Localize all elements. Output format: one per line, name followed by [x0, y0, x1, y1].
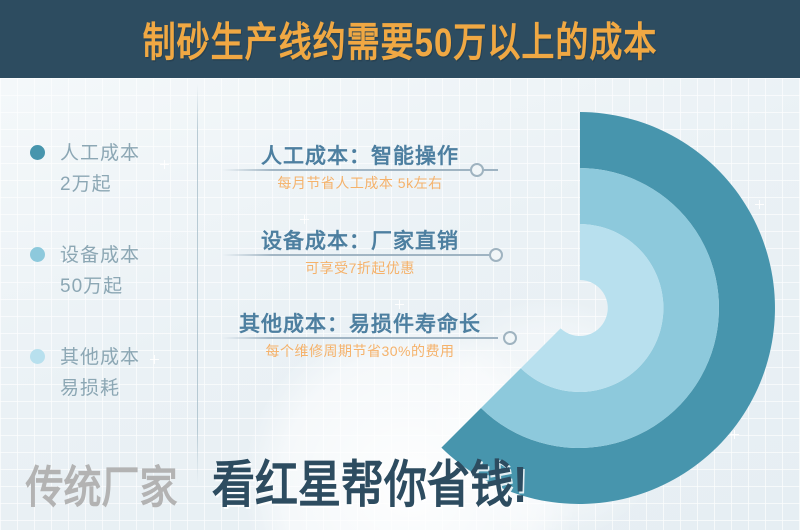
callout-title-labor: 人工成本：智能操作 — [210, 140, 510, 170]
circle-node-icon — [470, 163, 484, 177]
legend-label-labor-line1: 人工成本 — [60, 143, 140, 164]
legend-label-other-line1: 其他成本 — [60, 347, 140, 368]
callout-subtitle-labor: 每月节省人工成本 5k左右 — [210, 173, 510, 193]
callout-rule-labor — [222, 169, 498, 171]
legend-dot-labor — [30, 145, 45, 160]
callout-title-other: 其他成本：易损件寿命长 — [210, 308, 510, 338]
vertical-divider — [197, 84, 198, 484]
legend-label-equipment-line2: 50万起 — [60, 271, 190, 302]
legend-label-labor-line2: 2万起 — [60, 169, 190, 200]
circle-node-icon — [503, 331, 517, 345]
legend-dot-other — [30, 349, 45, 364]
sparkle-icon — [300, 215, 309, 224]
legend-label-labor: 人工成本 2万起 — [60, 138, 190, 200]
callout-subtitle-other: 每个维修周期节省30%的费用 — [210, 341, 510, 361]
cost-legend-sidebar: 人工成本 2万起 设备成本 50万起 其他成本 易损耗 — [0, 120, 197, 410]
circle-node-icon — [489, 248, 503, 262]
callout-rule-equipment — [222, 254, 498, 256]
legend-label-other: 其他成本 易损耗 — [60, 342, 190, 404]
callout-rule-other — [222, 337, 498, 339]
infographic-canvas: 制砂生产线约需要50万以上的成本 人工成本 2万起 设备成本 50万起 — [0, 0, 800, 530]
legend-dot-equipment — [30, 247, 45, 262]
footer-traditional-label: 传统厂家 — [14, 451, 189, 516]
callout-title-equipment: 设备成本：厂家直销 — [210, 225, 510, 255]
legend-label-other-line2: 易损耗 — [60, 373, 190, 404]
legend-label-equipment-line1: 设备成本 — [60, 245, 140, 266]
page-title: 制砂生产线约需要50万以上的成本 — [0, 0, 800, 87]
legend-label-equipment: 设备成本 50万起 — [60, 240, 190, 302]
footer-savings-label: 看红星帮你省钱! — [212, 444, 542, 517]
callout-subtitle-equipment: 可享受7折起优惠 — [210, 258, 510, 278]
